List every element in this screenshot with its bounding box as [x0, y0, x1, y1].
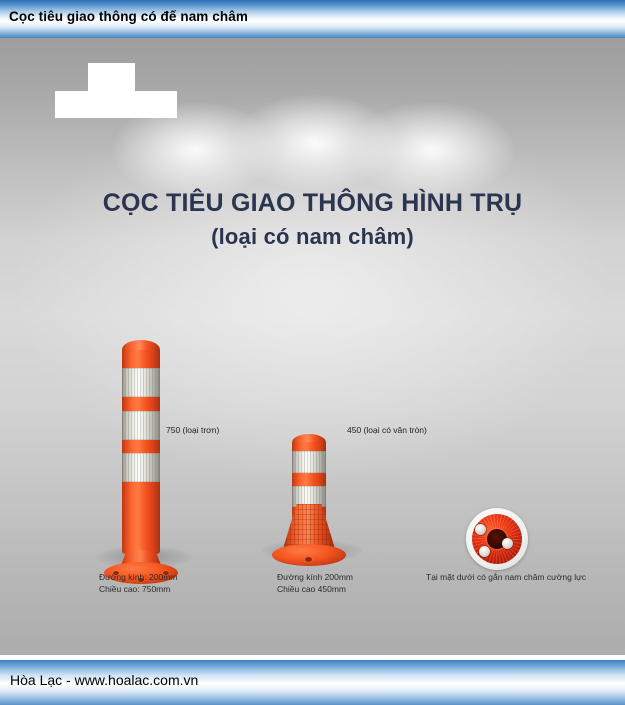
bollard-750-reflective-band-1 [122, 368, 160, 397]
bollard-450-reflective-band-1 [292, 451, 326, 473]
poster-headline: CỌC TIÊU GIAO THÔNG HÌNH TRỤ [0, 191, 625, 216]
magnet-puck-2 [502, 538, 513, 549]
bollard-450-spec-height: Chiều cao 450mm [277, 584, 346, 595]
magnet-base-detail [466, 508, 528, 570]
footer-website-text[interactable]: Hòa Lạc - www.hoalac.com.vn [10, 672, 198, 688]
bollard-750-spec-diameter: Đường kính: 200mm [99, 572, 177, 583]
magnet-puck-3 [479, 546, 490, 557]
bollard-750-spec-height: Chiều cao: 750mm [99, 584, 170, 595]
bollard-450-base-plate [272, 544, 346, 566]
bollard-450-bolt-hole-front [305, 557, 312, 562]
bollard-450-reflective-band-2 [292, 486, 326, 507]
poster-body: CỌC TIÊU GIAO THÔNG HÌNH TRỤ (loại có na… [0, 38, 625, 655]
poster-headline-subtitle: (loại có nam châm) [0, 224, 625, 250]
bollard-450-spec-diameter: Đường kính 200mm [277, 572, 353, 583]
poster-page: Cọc tiêu giao thông có đế nam châm CỌC T… [0, 0, 625, 705]
bollard-450-tag: 450 (loại có vân tròn) [347, 425, 427, 435]
bollard-750-tag: 750 (loại trơn) [166, 425, 219, 435]
bollard-750-reflective-band-3 [122, 453, 160, 482]
magnet-puck-1 [475, 524, 486, 535]
company-logo-placeholder-top [88, 63, 135, 91]
bollard-750-reflective-band-2 [122, 411, 160, 440]
page-header-bar: Cọc tiêu giao thông có đế nam châm [0, 0, 625, 38]
page-footer-bar: Hòa Lạc - www.hoalac.com.vn [0, 660, 625, 705]
company-logo-placeholder-bottom [55, 91, 177, 118]
page-title: Cọc tiêu giao thông có đế nam châm [9, 9, 248, 24]
magnet-caption: Tại mặt dưới có gắn nam châm cường lực [426, 572, 586, 583]
